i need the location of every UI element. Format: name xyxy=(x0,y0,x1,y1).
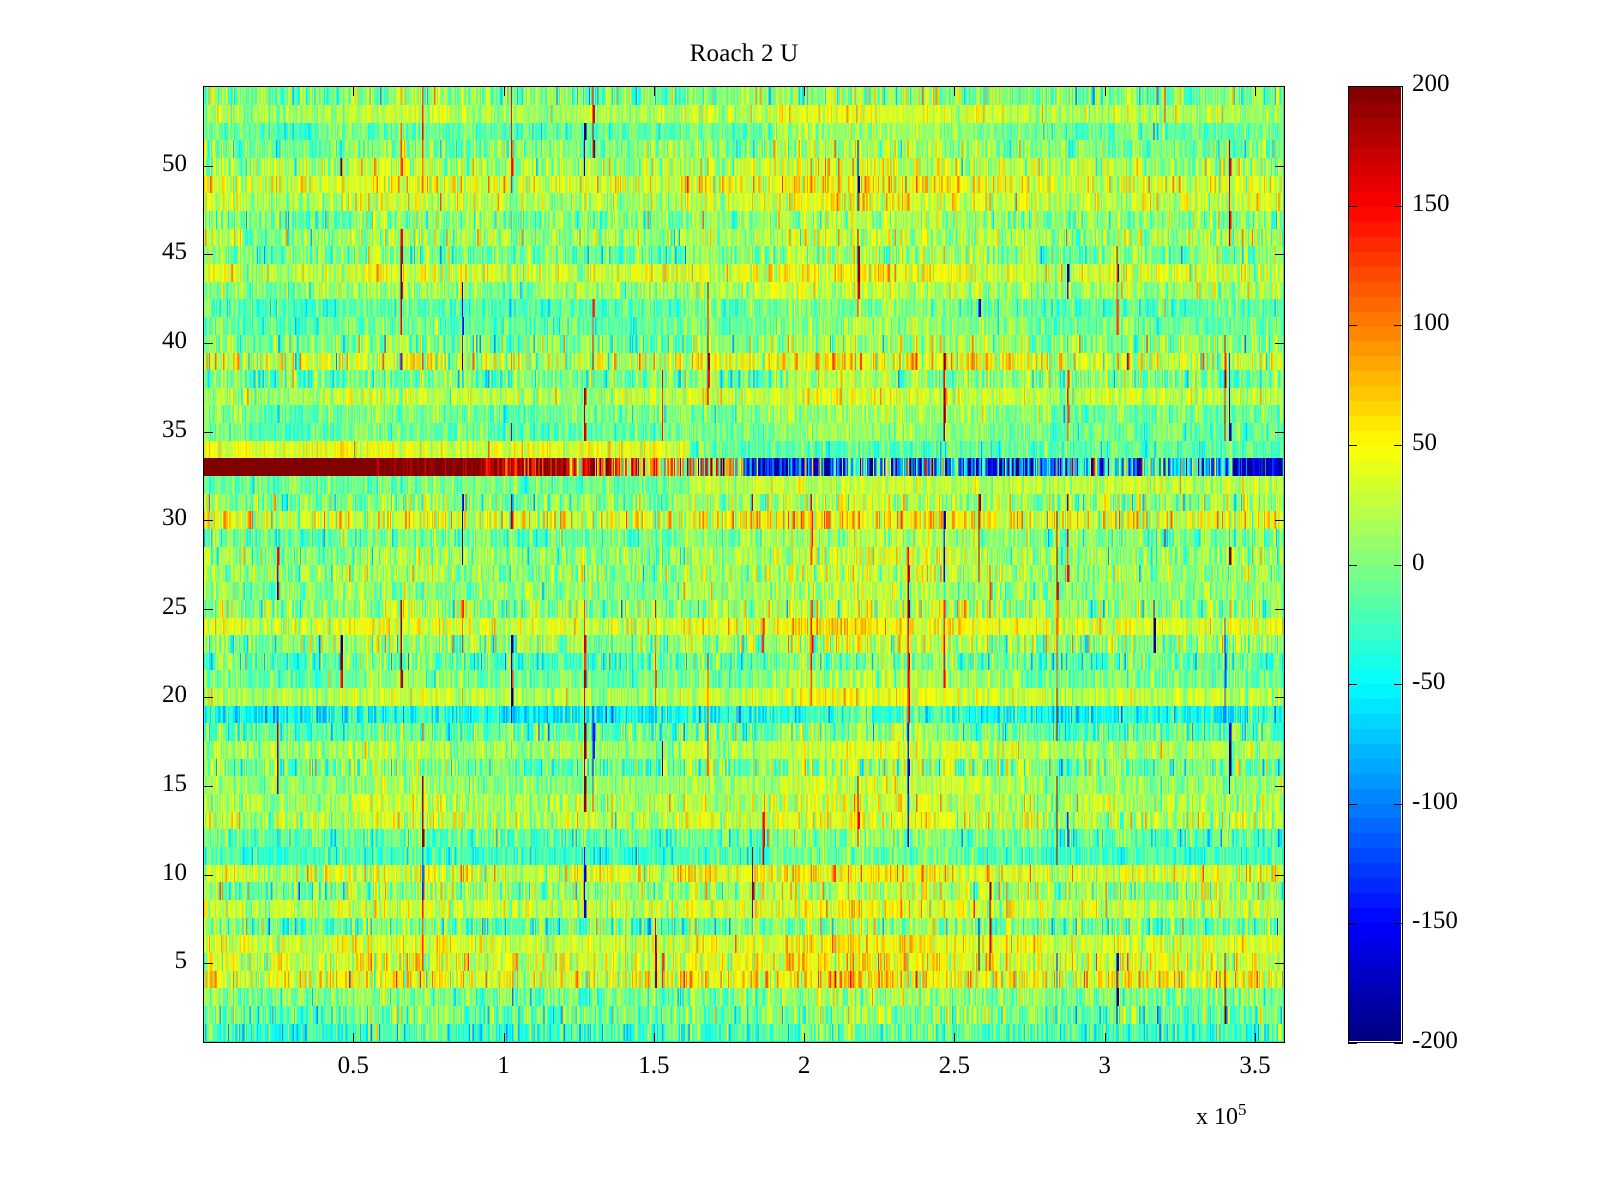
y-axis-tick-mark xyxy=(203,875,213,876)
y-axis-tick-mark xyxy=(203,609,213,610)
x-axis-tick-label: 2.5 xyxy=(909,1052,999,1080)
y-axis-tick-label: 20 xyxy=(127,681,187,709)
colorbar-tick-mark xyxy=(1348,684,1357,685)
y-axis-tick-mark-right xyxy=(1275,520,1285,521)
x-axis-tick-mark xyxy=(353,1033,354,1043)
y-axis-tick-mark-right xyxy=(1275,609,1285,610)
x-axis-tick-mark-top xyxy=(353,86,354,96)
y-axis-tick-label: 15 xyxy=(127,770,187,798)
y-axis-tick-label: 45 xyxy=(127,238,187,266)
heatmap-axes[interactable] xyxy=(203,86,1285,1043)
y-axis-tick-mark-right xyxy=(1275,432,1285,433)
y-axis-tick-mark-right xyxy=(1275,875,1285,876)
colorbar-tick-mark-right xyxy=(1394,206,1403,207)
x-axis-tick-label: 3.5 xyxy=(1210,1052,1300,1080)
x-axis-tick-label: 1 xyxy=(459,1052,549,1080)
heatmap-image xyxy=(204,87,1283,1041)
colorbar-tick-mark xyxy=(1348,325,1357,326)
x-axis-tick-label: 0.5 xyxy=(308,1052,398,1080)
x-axis-tick-mark-top xyxy=(954,86,955,96)
colorbar-tick-label: 50 xyxy=(1412,429,1437,457)
colorbar-tick-label: -200 xyxy=(1412,1027,1458,1055)
colorbar-tick-label: 200 xyxy=(1412,70,1450,98)
y-axis-tick-mark xyxy=(203,963,213,964)
x-axis-tick-label: 3 xyxy=(1060,1052,1150,1080)
colorbar-tick-label: -100 xyxy=(1412,788,1458,816)
y-axis-tick-mark xyxy=(203,697,213,698)
colorbar-tick-mark-right xyxy=(1394,325,1403,326)
x-axis-tick-mark-top xyxy=(1105,86,1106,96)
y-axis-tick-label: 30 xyxy=(127,504,187,532)
y-axis-tick-mark xyxy=(203,520,213,521)
x-axis-exponent-label: x 105 xyxy=(1196,1100,1247,1131)
colorbar-tick-mark-right xyxy=(1394,86,1403,87)
colorbar-tick-mark-right xyxy=(1394,565,1403,566)
colorbar-tick-mark-right xyxy=(1394,923,1403,924)
x-exponent-base: x 10 xyxy=(1196,1104,1238,1130)
colorbar-tick-mark-right xyxy=(1394,1043,1403,1044)
colorbar-tick-mark xyxy=(1348,804,1357,805)
y-axis-tick-mark-right xyxy=(1275,963,1285,964)
x-axis-tick-mark xyxy=(654,1033,655,1043)
y-axis-tick-mark-right xyxy=(1275,254,1285,255)
colorbar-tick-mark xyxy=(1348,565,1357,566)
x-axis-tick-label: 2 xyxy=(759,1052,849,1080)
x-axis-tick-mark xyxy=(954,1033,955,1043)
x-axis-tick-mark-top xyxy=(1255,86,1256,96)
y-axis-tick-label: 5 xyxy=(127,947,187,975)
x-axis-tick-mark xyxy=(504,1033,505,1043)
x-axis-tick-mark-top xyxy=(804,86,805,96)
colorbar-tick-mark xyxy=(1348,923,1357,924)
y-axis-tick-label: 10 xyxy=(127,859,187,887)
colorbar-tick-label: -150 xyxy=(1412,907,1458,935)
x-axis-tick-mark-top xyxy=(654,86,655,96)
x-axis-tick-mark xyxy=(804,1033,805,1043)
colorbar-tick-label: 0 xyxy=(1412,549,1425,577)
figure-canvas: Roach 2 U 5101520253035404550 0.511.522.… xyxy=(0,0,1600,1200)
colorbar-tick-mark xyxy=(1348,445,1357,446)
colorbar-tick-mark xyxy=(1348,86,1357,87)
colorbar-tick-mark-right xyxy=(1394,804,1403,805)
colorbar-tick-mark xyxy=(1348,1043,1357,1044)
y-axis-tick-label: 40 xyxy=(127,327,187,355)
colorbar-tick-label: 150 xyxy=(1412,190,1450,218)
y-axis-tick-mark-right xyxy=(1275,786,1285,787)
y-axis-tick-label: 50 xyxy=(127,150,187,178)
y-axis-tick-label: 35 xyxy=(127,416,187,444)
x-axis-tick-mark-top xyxy=(504,86,505,96)
y-axis-tick-label: 25 xyxy=(127,593,187,621)
y-axis-tick-mark-right xyxy=(1275,343,1285,344)
colorbar-tick-label: -50 xyxy=(1412,668,1445,696)
colorbar-tick-mark-right xyxy=(1394,684,1403,685)
colorbar-tick-mark xyxy=(1348,206,1357,207)
x-exponent-power: 5 xyxy=(1238,1100,1247,1119)
y-axis-tick-mark-right xyxy=(1275,697,1285,698)
y-axis-tick-mark xyxy=(203,786,213,787)
x-axis-tick-label: 1.5 xyxy=(609,1052,699,1080)
colorbar-tick-label: 100 xyxy=(1412,309,1450,337)
y-axis-tick-mark-right xyxy=(1275,166,1285,167)
page-title: Roach 2 U xyxy=(203,40,1285,68)
y-axis-tick-mark xyxy=(203,432,213,433)
y-axis-tick-mark xyxy=(203,254,213,255)
x-axis-tick-mark xyxy=(1255,1033,1256,1043)
colorbar-tick-mark-right xyxy=(1394,445,1403,446)
x-axis-tick-mark xyxy=(1105,1033,1106,1043)
y-axis-tick-mark xyxy=(203,166,213,167)
y-axis-tick-mark xyxy=(203,343,213,344)
